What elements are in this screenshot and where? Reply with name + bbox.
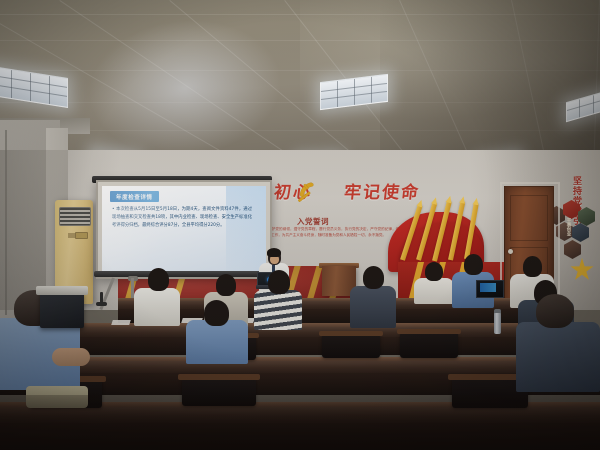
hammer-and-sickle-emblem	[292, 178, 318, 204]
slogan-char-3: 初	[273, 185, 292, 202]
desk-row-3-lip	[0, 357, 600, 361]
desk-row-4-top	[0, 406, 600, 424]
chair-frame-row4-2	[178, 374, 260, 380]
desk-row-3-top	[0, 360, 600, 374]
presenter-hair	[267, 248, 281, 257]
attendee-head	[536, 294, 574, 328]
ac-logo	[68, 233, 75, 238]
projection-screen: 年度检查详情 • 本次检查从5月15日至5月18日，为期4天，查阅文件资料47件…	[96, 180, 272, 279]
back-monitor-glow	[480, 283, 496, 292]
attendee-trousers	[26, 386, 88, 408]
party-oath-title: 入党誓词	[283, 216, 343, 227]
attendee-head	[363, 266, 384, 289]
attendee-torso	[516, 322, 600, 392]
chair-frame-row3-3	[397, 329, 461, 334]
conference-room-photo: 不 忘 初 心 牢 记 使 命 入党誓词 我志愿加入中国共产党，拥护党的纲领，遵…	[0, 0, 600, 450]
attendee-arm	[52, 348, 90, 366]
door-knob[interactable]	[508, 249, 513, 254]
hex-photo-2	[563, 200, 580, 219]
attendee-torso	[414, 278, 454, 304]
chair-row4-2[interactable]	[182, 378, 256, 406]
chair-frame-row3-2	[319, 331, 383, 336]
attendee-torso	[134, 288, 180, 326]
chair-row3-3[interactable]	[400, 332, 458, 358]
attendee-head	[204, 300, 229, 326]
attendee-torso	[350, 286, 396, 328]
ac-display-panel[interactable]	[75, 232, 88, 239]
hex-collage-caption: 干事创业	[566, 218, 571, 236]
hex-photo-6	[564, 240, 581, 259]
desk-row-4-front	[0, 423, 600, 450]
desk-row-2-front	[72, 337, 552, 355]
ac-vent	[59, 207, 91, 226]
attendee-head	[523, 256, 542, 277]
attendee-torso	[254, 290, 302, 330]
presentation-slide: 年度检查详情 • 本次检查从5月15日至5月18日，为期4天，查阅文件资料47件…	[102, 186, 266, 273]
desk-paper-1	[111, 320, 131, 325]
slide-body-text: • 本次检查从5月15日至5月18日，为期4天，查阅文件资料47件，通过现场抽查…	[112, 206, 252, 230]
slogan-char-5: 牢	[343, 185, 362, 202]
equipment-case-lid	[36, 286, 88, 295]
attendee-head	[148, 268, 169, 291]
stainless-steel-thermos[interactable]	[494, 312, 501, 334]
slide-title: 年度检查详情	[110, 191, 159, 202]
attendee-head	[268, 270, 290, 294]
screen-weight-bar	[94, 271, 270, 277]
desk-microphone-base	[96, 302, 107, 306]
attendee-head	[464, 254, 483, 275]
attendee-torso	[186, 320, 248, 364]
attendee-head	[425, 262, 443, 281]
attendee-head	[216, 274, 236, 296]
chair-row3-2[interactable]	[322, 334, 380, 358]
equipment-case	[40, 292, 84, 328]
